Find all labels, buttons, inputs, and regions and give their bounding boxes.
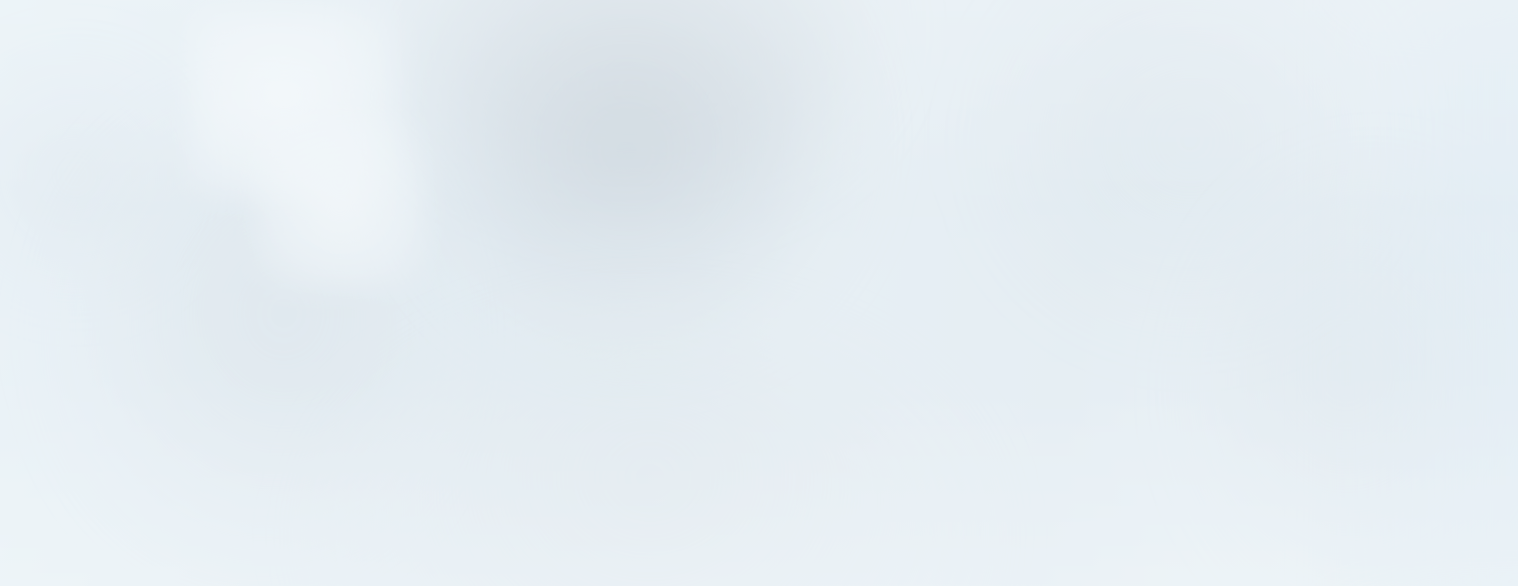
background-hair-blur bbox=[400, 0, 870, 190]
background-right-blur-b bbox=[1210, 180, 1518, 586]
infographic-canvas bbox=[0, 0, 1518, 586]
background-shelf-blur bbox=[0, 60, 190, 290]
background-block-upper bbox=[190, 10, 400, 200]
timeline-chain bbox=[0, 264, 1518, 376]
